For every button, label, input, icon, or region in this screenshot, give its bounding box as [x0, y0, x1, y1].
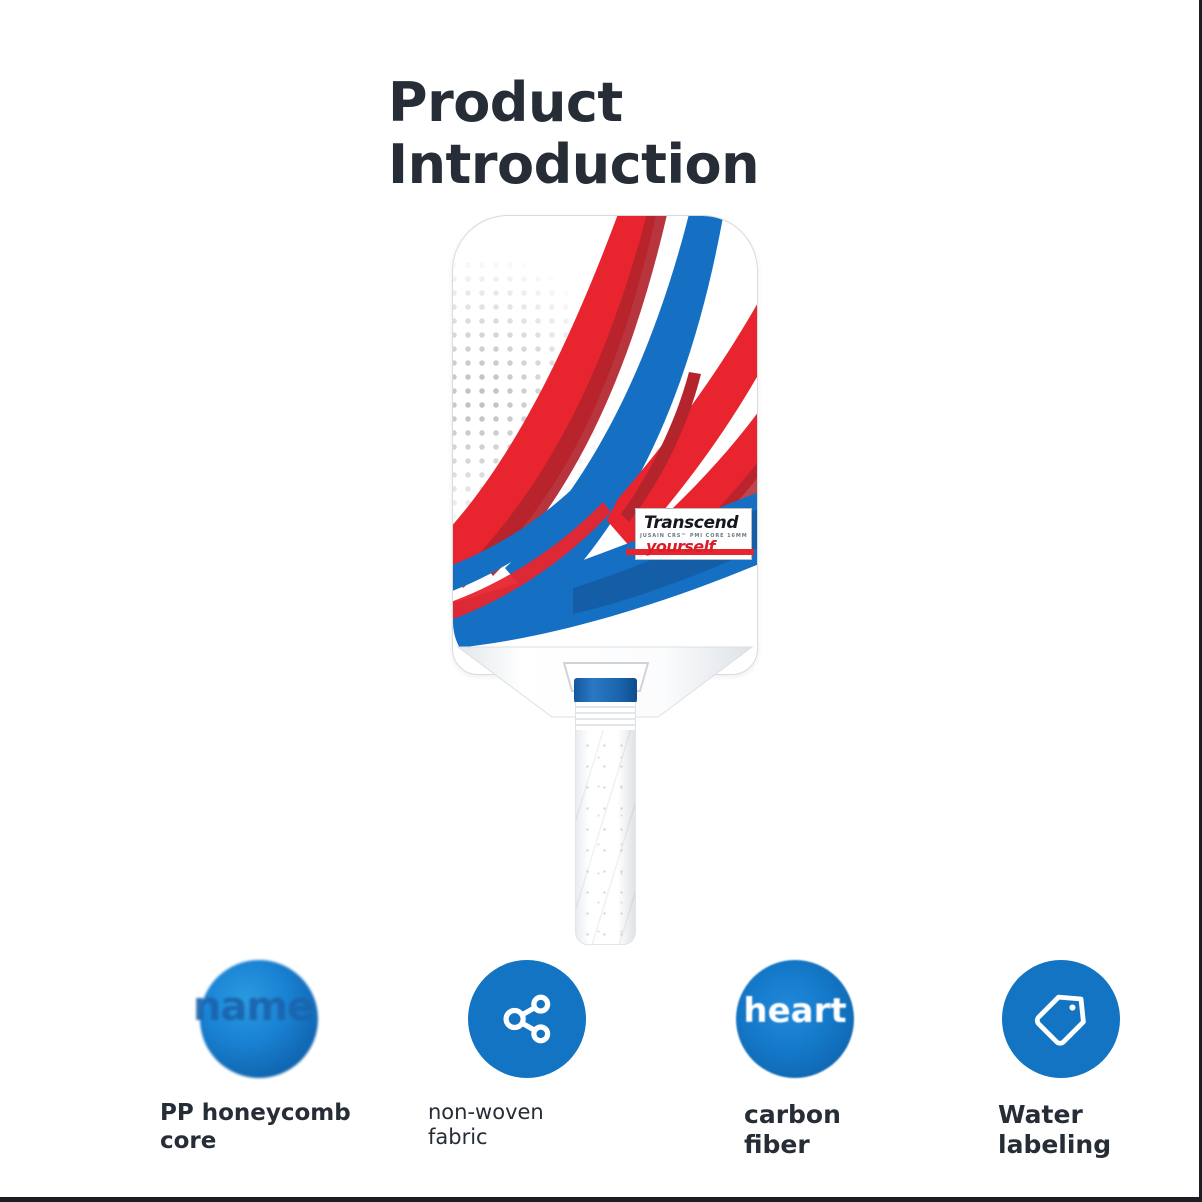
feature-list: name PP honeycomb core non-woven fabric … [0, 960, 1202, 1160]
product-image-paddle: Transcend JUSAIN CRS™ PMI CORE 16MM your… [435, 205, 775, 965]
honeycomb-icon-glitch-text: name [193, 984, 313, 1030]
brand-name-text: Transcend [644, 513, 738, 533]
price-tag-icon-glyph [1029, 987, 1093, 1051]
heart-icon[interactable]: heart [736, 960, 854, 1078]
grip-perforations [576, 728, 635, 944]
paddle-graphic-swooshes [453, 216, 758, 675]
brand-tagline-text: yourself [646, 537, 715, 556]
paddle-grip [575, 727, 636, 945]
share-network-icon-glyph [494, 986, 560, 1052]
card-corner-artifact [0, 0, 30, 30]
paddle-face: Transcend JUSAIN CRS™ PMI CORE 16MM your… [452, 215, 758, 675]
product-introduction-page: Product Introduction [0, 0, 1202, 1202]
honeycomb-icon[interactable]: name [200, 960, 318, 1078]
feature-label-non-woven-fabric: non-woven fabric [428, 1100, 544, 1150]
brand-logo-plate: Transcend JUSAIN CRS™ PMI CORE 16MM your… [635, 508, 752, 560]
share-network-icon[interactable] [468, 960, 586, 1078]
feature-label-water-labeling: Water labeling [998, 1100, 1111, 1160]
feature-item-carbon-fiber[interactable]: heart carbon fiber [688, 960, 924, 1160]
page-title: Product Introduction [388, 72, 928, 195]
feature-item-water-labeling[interactable]: Water labeling [954, 960, 1190, 1160]
feature-item-pp-honeycomb-core[interactable]: name PP honeycomb core [152, 960, 388, 1160]
feature-label-carbon-fiber: carbon fiber [744, 1100, 841, 1160]
price-tag-icon[interactable] [1002, 960, 1120, 1078]
feature-label-pp-honeycomb-core: PP honeycomb core [160, 1100, 351, 1155]
handle-ferrule [575, 702, 636, 730]
heart-icon-glitch-text: heart [743, 991, 846, 1031]
feature-item-non-woven-fabric[interactable]: non-woven fabric [420, 960, 656, 1160]
